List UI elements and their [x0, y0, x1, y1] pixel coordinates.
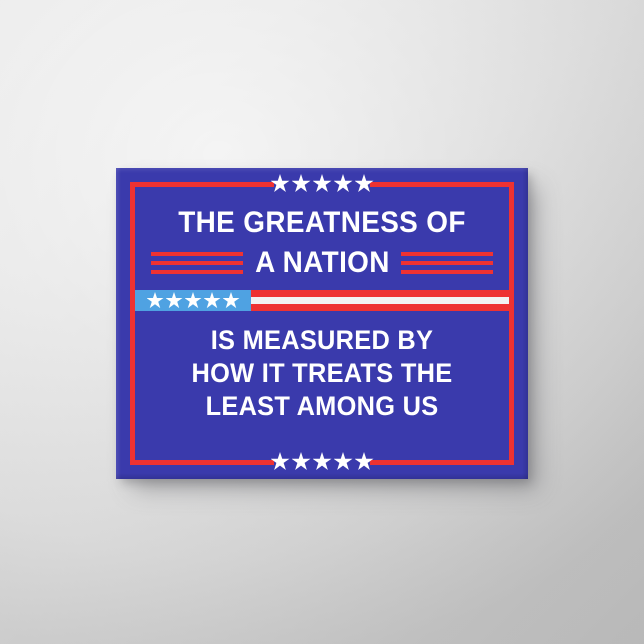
flag-stripes — [251, 290, 509, 311]
canvas-print-artwork[interactable]: THE GREATNESS OF A NATION — [116, 168, 528, 479]
rule-line — [151, 252, 243, 256]
body-line-3: LEAST AMONG US — [128, 390, 515, 423]
body-line-2: HOW IT TREATS THE — [128, 357, 515, 390]
left-rule-stack — [151, 252, 243, 274]
star-icon — [292, 452, 311, 471]
star-icon — [223, 292, 240, 309]
right-rule-stack — [401, 252, 493, 274]
flag-stripe-red — [251, 290, 509, 297]
flag-stripe-white — [251, 297, 509, 304]
poster-face[interactable]: THE GREATNESS OF A NATION — [116, 168, 528, 479]
border-top-right-segment — [370, 182, 514, 187]
headline-line-2: A NATION — [255, 248, 390, 278]
rule-line — [401, 261, 493, 265]
wall-background: THE GREATNESS OF A NATION — [0, 0, 644, 644]
flag-divider-bar — [135, 290, 509, 311]
star-icon — [204, 292, 221, 309]
star-icon — [313, 174, 332, 193]
star-icon — [292, 174, 311, 193]
star-icon — [185, 292, 202, 309]
headline-line-1: THE GREATNESS OF — [130, 208, 513, 238]
body-line-1: IS MEASURED BY — [128, 324, 515, 357]
star-icon — [313, 452, 332, 471]
star-icon — [147, 292, 164, 309]
border-bottom-left-segment — [130, 460, 274, 465]
border-top-left-segment — [130, 182, 274, 187]
border-bottom-right-segment — [370, 460, 514, 465]
rule-line — [151, 270, 243, 274]
star-icon — [166, 292, 183, 309]
body-text-block: IS MEASURED BY HOW IT TREATS THE LEAST A… — [116, 324, 528, 423]
star-icon — [334, 174, 353, 193]
rule-line — [401, 270, 493, 274]
star-icon — [334, 452, 353, 471]
rule-line — [151, 261, 243, 265]
flag-stripe-red — [251, 304, 509, 311]
headline-line-2-row: A NATION — [116, 246, 528, 280]
flag-canton — [135, 290, 251, 311]
rule-line — [401, 252, 493, 256]
